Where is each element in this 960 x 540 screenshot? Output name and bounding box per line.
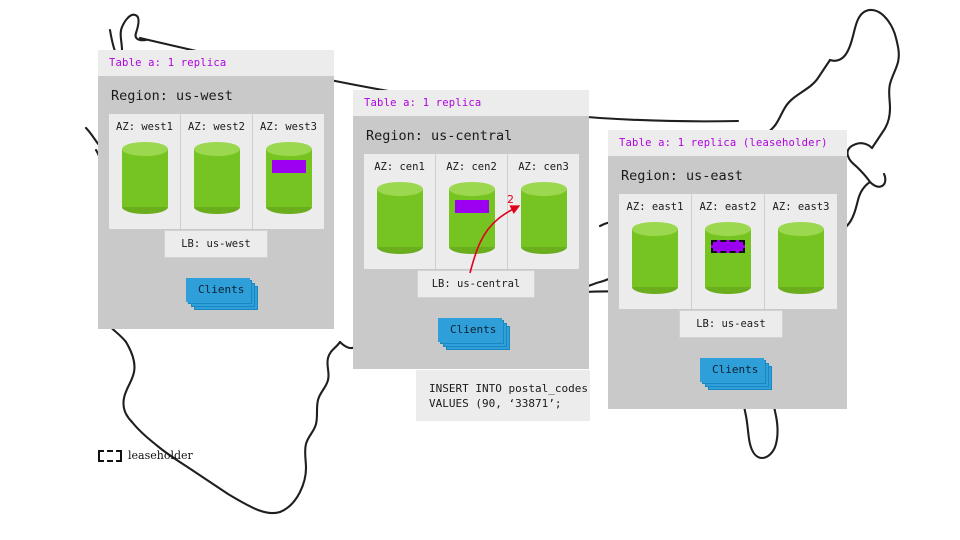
az-cell-east3[interactable]: AZ: east3 xyxy=(765,194,837,309)
cylinder-body xyxy=(122,149,168,207)
az-cell-east2[interactable]: AZ: east2 xyxy=(692,194,765,309)
node-cylinder-west1[interactable] xyxy=(122,142,168,214)
az-row-us-west: AZ: west1 AZ: west2 AZ xyxy=(109,114,324,229)
load-balancer-us-east[interactable]: LB: us-east xyxy=(679,310,783,338)
az-label-west1: AZ: west1 xyxy=(116,121,173,133)
load-balancer-us-central[interactable]: LB: us-central xyxy=(417,270,535,298)
panel-header-us-east: Table a: 1 replica (leaseholder) xyxy=(608,130,847,156)
cylinder-body xyxy=(449,189,495,247)
az-label-east1: AZ: east1 xyxy=(627,201,684,213)
cylinder-body xyxy=(521,189,567,247)
az-row-us-east: AZ: east1 AZ: east2 xyxy=(619,194,837,309)
cylinder-body xyxy=(632,229,678,287)
az-label-cen1: AZ: cen1 xyxy=(374,161,425,173)
clients-stack-us-central[interactable]: Clients xyxy=(438,318,502,342)
clients-stack-us-west[interactable]: Clients xyxy=(186,278,250,302)
az-cell-west1[interactable]: AZ: west1 xyxy=(109,114,181,229)
region-panel-us-west: Table a: 1 replica Region: us-west AZ: w… xyxy=(98,50,334,329)
az-row-us-central: AZ: cen1 AZ: cen2 xyxy=(364,154,579,269)
az-cell-east1[interactable]: AZ: east1 xyxy=(619,194,692,309)
cylinder-top xyxy=(778,222,824,236)
cylinder-body xyxy=(194,149,240,207)
cylinder-top xyxy=(521,182,567,196)
cylinder-top xyxy=(266,142,312,156)
node-cylinder-west2[interactable] xyxy=(194,142,240,214)
node-cylinder-cen3[interactable] xyxy=(521,182,567,254)
node-cylinder-east2[interactable] xyxy=(705,222,751,294)
region-title-us-central: Region: us-central xyxy=(366,128,579,144)
region-title-us-west: Region: us-west xyxy=(111,88,324,104)
az-cell-cen1[interactable]: AZ: cen1 xyxy=(364,154,436,269)
az-label-cen3: AZ: cen3 xyxy=(518,161,569,173)
az-label-cen2: AZ: cen2 xyxy=(446,161,497,173)
cylinder-top xyxy=(449,182,495,196)
dashed-rect-icon xyxy=(98,450,122,462)
replica-block-west3[interactable] xyxy=(272,160,306,173)
cylinder-top xyxy=(377,182,423,196)
cylinder-top xyxy=(632,222,678,236)
az-cell-west3[interactable]: AZ: west3 xyxy=(253,114,324,229)
legend: leaseholder xyxy=(98,449,193,462)
cylinder-body xyxy=(266,149,312,207)
cylinder-top xyxy=(705,222,751,236)
az-cell-cen3[interactable]: AZ: cen3 xyxy=(508,154,579,269)
az-label-west3: AZ: west3 xyxy=(260,121,317,133)
sql-statement-box: INSERT INTO postal_codes VALUES (90, ‘33… xyxy=(416,370,590,421)
cylinder-top xyxy=(122,142,168,156)
legend-label: leaseholder xyxy=(128,449,193,462)
az-label-east3: AZ: east3 xyxy=(773,201,830,213)
region-panel-us-east: Table a: 1 replica (leaseholder) Region:… xyxy=(608,130,847,409)
region-panel-us-central: Table a: 1 replica Region: us-central AZ… xyxy=(353,90,589,369)
region-title-us-east: Region: us-east xyxy=(621,168,837,184)
cylinder-body xyxy=(377,189,423,247)
cylinder-top xyxy=(194,142,240,156)
az-cell-cen2[interactable]: AZ: cen2 xyxy=(436,154,508,269)
cylinder-body xyxy=(778,229,824,287)
node-cylinder-cen1[interactable] xyxy=(377,182,423,254)
clients-button-us-central[interactable]: Clients xyxy=(438,318,502,342)
az-label-west2: AZ: west2 xyxy=(188,121,245,133)
panel-header-us-west: Table a: 1 replica xyxy=(98,50,334,76)
az-cell-west2[interactable]: AZ: west2 xyxy=(181,114,253,229)
node-cylinder-cen2[interactable] xyxy=(449,182,495,254)
panel-header-us-central: Table a: 1 replica xyxy=(353,90,589,116)
replica-block-cen2[interactable] xyxy=(455,200,489,213)
clients-button-us-west[interactable]: Clients xyxy=(186,278,250,302)
clients-button-us-east[interactable]: Clients xyxy=(700,358,764,382)
node-cylinder-east3[interactable] xyxy=(778,222,824,294)
arrow-label-2: 2 xyxy=(507,193,514,206)
clients-stack-us-east[interactable]: Clients xyxy=(700,358,764,382)
diagram-canvas: 2 Table a: 1 replica Region: us-west AZ:… xyxy=(0,0,960,540)
az-label-east2: AZ: east2 xyxy=(700,201,757,213)
load-balancer-us-west[interactable]: LB: us-west xyxy=(164,230,268,258)
cylinder-body xyxy=(705,229,751,287)
leaseholder-replica-block-east2[interactable] xyxy=(711,240,745,253)
node-cylinder-west3[interactable] xyxy=(266,142,312,214)
node-cylinder-east1[interactable] xyxy=(632,222,678,294)
